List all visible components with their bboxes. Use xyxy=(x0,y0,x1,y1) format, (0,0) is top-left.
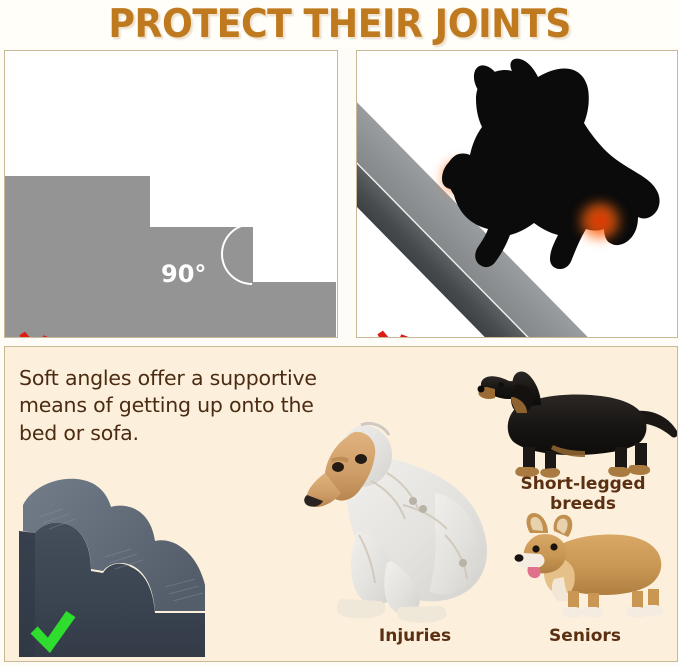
green-check-icon xyxy=(27,609,79,655)
photo-dachshund xyxy=(457,367,678,479)
infographic-page: PROTECT THEIR JOINTS 90° xyxy=(0,0,679,666)
caption-line-2: breeds xyxy=(503,495,663,515)
red-x-icon xyxy=(13,327,59,338)
panel-sharp-step: 90° xyxy=(4,50,338,338)
caption-short-legged-breeds: Short-legged breeds xyxy=(503,475,663,514)
dog-silhouette xyxy=(362,53,674,303)
page-title: PROTECT THEIR JOINTS xyxy=(108,5,571,44)
page-title-bar: PROTECT THEIR JOINTS xyxy=(0,0,679,48)
solution-body-text: Soft angles offer a supportive means of … xyxy=(19,365,319,447)
angle-label: 90° xyxy=(161,262,206,286)
panel-steep-ramp xyxy=(356,50,678,338)
red-x-icon xyxy=(371,326,417,338)
photo-corgi xyxy=(510,505,678,625)
caption-line-1: Short-legged xyxy=(503,475,663,495)
step-block-upper xyxy=(5,176,150,286)
joint-glow-hip xyxy=(575,201,625,241)
panel-solution: Soft angles offer a supportive means of … xyxy=(4,346,678,662)
caption-injuries: Injuries xyxy=(335,627,495,647)
ramp-illustration xyxy=(357,51,677,337)
caption-seniors: Seniors xyxy=(505,627,665,647)
